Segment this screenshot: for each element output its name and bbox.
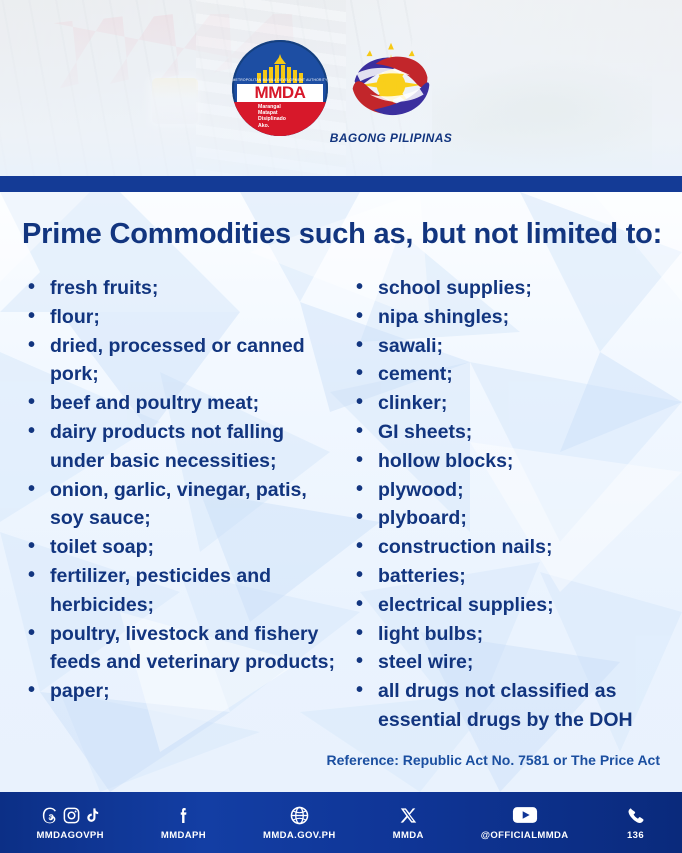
footer-item-hotline[interactable]: 136: [626, 804, 646, 841]
list-item: cement;: [350, 360, 682, 389]
footer-label: MMDA.GOV.PH: [263, 830, 336, 841]
mmda-ring-text: METROPOLITAN MANILA DEVELOPMENT AUTHORIT…: [232, 78, 328, 82]
commodities-columns: fresh fruits; flour; dried, processed or…: [0, 274, 682, 735]
mmda-logo: METROPOLITAN MANILA DEVELOPMENT AUTHORIT…: [232, 40, 328, 136]
list-item: construction nails;: [350, 533, 682, 562]
list-item: beef and poultry meat;: [22, 389, 340, 418]
list-item: sawali;: [350, 332, 682, 361]
list-item: hollow blocks;: [350, 447, 682, 476]
list-item: clinker;: [350, 389, 682, 418]
globe-icon[interactable]: [289, 805, 310, 826]
list-item: dairy products not falling under basic n…: [22, 418, 340, 476]
footer-bar: MMDAGOVPH MMDAPH MMDA.GOV.PH: [0, 792, 682, 853]
mmda-motto: Marangal Matapat Disiplinado Ako.: [258, 104, 302, 129]
list-item: plywood;: [350, 476, 682, 505]
commodities-left-column: fresh fruits; flour; dried, processed or…: [0, 274, 340, 735]
bagong-pilipinas-icon: [343, 37, 439, 129]
mmda-lower-half: Marangal Matapat Disiplinado Ako.: [232, 102, 328, 136]
footer-item-mmdaph[interactable]: MMDAPH: [161, 804, 206, 841]
header-logos: METROPOLITAN MANILA DEVELOPMENT AUTHORIT…: [0, 0, 682, 176]
list-item: dried, processed or canned pork;: [22, 332, 340, 390]
x-twitter-icon[interactable]: [399, 806, 418, 825]
facebook-icon[interactable]: [173, 805, 193, 826]
list-item: nipa shingles;: [350, 303, 682, 332]
list-item: onion, garlic, vinegar, patis, soy sauce…: [22, 476, 340, 534]
list-item: light bulbs;: [350, 620, 682, 649]
list-item: flour;: [22, 303, 340, 332]
mmda-acronym-band: MMDA: [237, 84, 323, 102]
footer-label: @OFFICIALMMDA: [481, 830, 569, 841]
list-item: electrical supplies;: [350, 591, 682, 620]
list-item: fresh fruits;: [22, 274, 340, 303]
header-banner: METROPOLITAN MANILA DEVELOPMENT AUTHORIT…: [0, 0, 682, 176]
footer-icons-group: [399, 804, 418, 826]
list-item: toilet soap;: [22, 533, 340, 562]
header-divider: [0, 176, 682, 192]
footer-item-youtube[interactable]: @OFFICIALMMDA: [481, 804, 569, 841]
page-title: Prime Commodities such as, but not limit…: [22, 218, 662, 251]
footer-icons-group: [40, 804, 101, 826]
list-item: school supplies;: [350, 274, 682, 303]
phone-icon[interactable]: [626, 805, 646, 826]
footer-item-x[interactable]: MMDA: [393, 804, 424, 841]
list-item: steel wire;: [350, 648, 682, 677]
footer-item-mmdagovph[interactable]: MMDAGOVPH: [36, 804, 103, 841]
tiktok-icon[interactable]: [84, 806, 101, 825]
commodities-right-column: school supplies; nipa shingles; sawali; …: [340, 274, 682, 735]
bagong-pilipinas-logo: BAGONG PILIPINAS: [332, 37, 450, 145]
footer-icons-group: [512, 804, 538, 826]
list-item: batteries;: [350, 562, 682, 591]
list-item: GI sheets;: [350, 418, 682, 447]
footer-icons-group: [289, 804, 310, 826]
list-item: all drugs not classified as essential dr…: [350, 677, 682, 735]
youtube-icon[interactable]: [512, 805, 538, 825]
poster: METROPOLITAN MANILA DEVELOPMENT AUTHORIT…: [0, 0, 682, 853]
reference-note: Reference: Republic Act No. 7581 or The …: [326, 752, 660, 768]
instagram-icon[interactable]: [62, 806, 81, 825]
list-item: plyboard;: [350, 504, 682, 533]
footer-label: MMDA: [393, 830, 424, 841]
footer-icons-group: [626, 804, 646, 826]
threads-icon[interactable]: [40, 806, 59, 825]
footer-label: MMDAPH: [161, 830, 206, 841]
bagong-pilipinas-caption: BAGONG PILIPINAS: [330, 131, 452, 145]
footer-label: MMDAGOVPH: [36, 830, 103, 841]
list-item: paper;: [22, 677, 340, 706]
mmda-acronym: MMDA: [255, 83, 306, 103]
commodities-right-list: school supplies; nipa shingles; sawali; …: [350, 274, 682, 735]
footer-label: 136: [627, 830, 644, 841]
footer-icons-group: [173, 804, 193, 826]
motto-line-4: Ako.: [258, 123, 302, 129]
footer-item-website[interactable]: MMDA.GOV.PH: [263, 804, 336, 841]
list-item: fertilizer, pesticides and herbicides;: [22, 562, 340, 620]
commodities-left-list: fresh fruits; flour; dried, processed or…: [22, 274, 340, 706]
content-area: Prime Commodities such as, but not limit…: [0, 192, 682, 792]
list-item: poultry, livestock and fishery feeds and…: [22, 620, 340, 678]
